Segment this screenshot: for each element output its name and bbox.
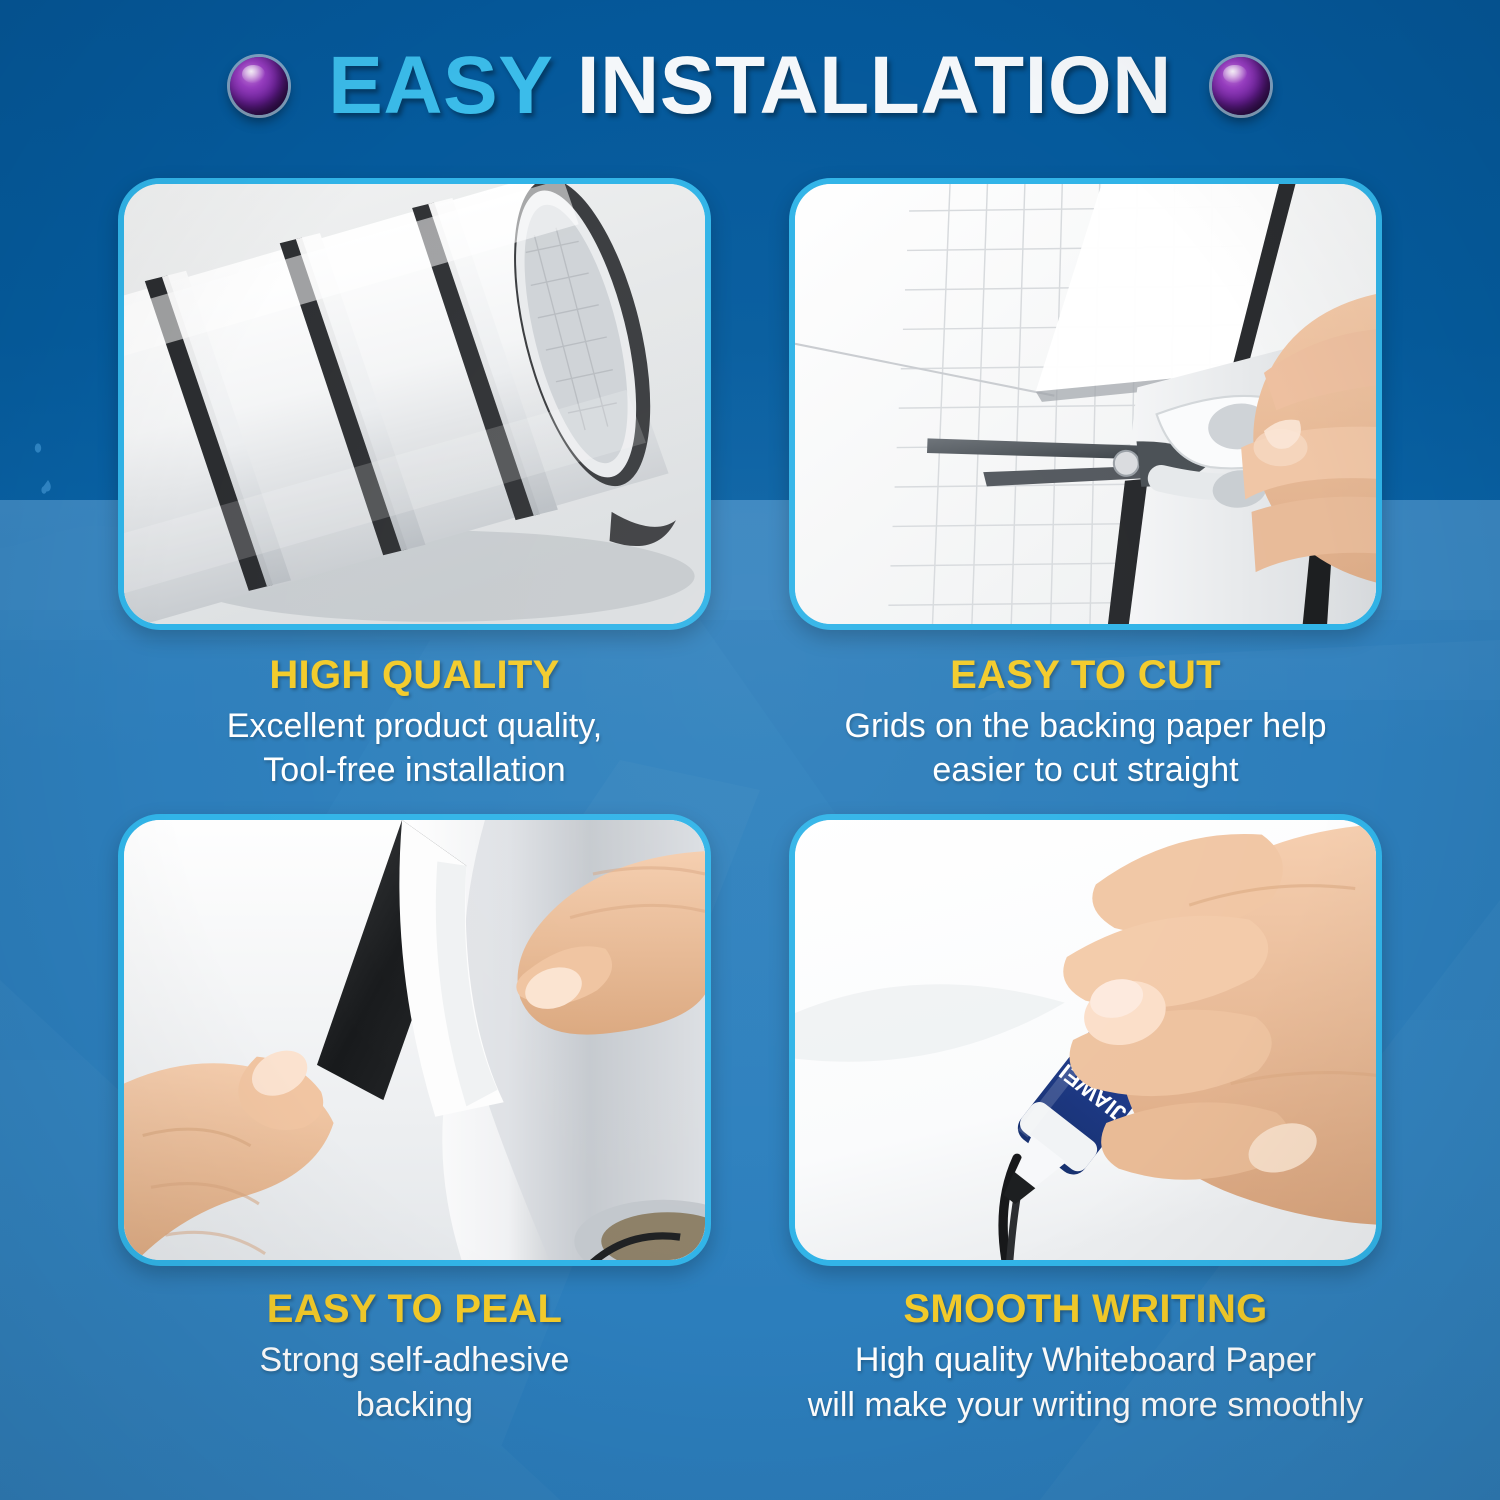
title-word-easy: EASY xyxy=(328,40,553,131)
caption-body-line-1: Grids on the backing paper help xyxy=(845,704,1327,748)
feature-grid: HIGH QUALITY Excellent product quality, … xyxy=(0,178,1500,1427)
photo-scissors-cutting-backing xyxy=(789,178,1382,630)
caption-body: Excellent product quality, Tool-free ins… xyxy=(227,704,602,792)
caption-body: Strong self-adhesive backing xyxy=(260,1338,570,1426)
photo-hands-peeling-backing xyxy=(118,814,711,1266)
purple-pin-icon-right xyxy=(1212,57,1270,115)
caption-high-quality: HIGH QUALITY Excellent product quality, … xyxy=(227,630,602,792)
poster-header: EASY INSTALLATION xyxy=(0,26,1500,146)
caption-heading: HIGH QUALITY xyxy=(227,652,602,698)
caption-body: High quality Whiteboard Paper will make … xyxy=(808,1338,1364,1426)
title-word-installation: INSTALLATION xyxy=(577,40,1172,131)
caption-smooth-writing: SMOOTH WRITING High quality Whiteboard P… xyxy=(808,1266,1364,1426)
caption-body-line-1: High quality Whiteboard Paper xyxy=(808,1338,1364,1382)
caption-body-line-1: Strong self-adhesive xyxy=(260,1338,570,1382)
caption-easy-to-peal: EASY TO PEAL Strong self-adhesive backin… xyxy=(260,1266,570,1426)
page-title: EASY INSTALLATION xyxy=(328,45,1172,127)
feature-cell-smooth-writing: 29 JW-526 No.1 JIAWEI xyxy=(789,814,1382,1426)
feature-cell-easy-to-peal: EASY TO PEAL Strong self-adhesive backin… xyxy=(118,814,711,1426)
product-infographic-poster: EASY INSTALLATION xyxy=(0,0,1500,1500)
caption-heading: SMOOTH WRITING xyxy=(808,1286,1364,1332)
caption-body-line-2: Tool-free installation xyxy=(227,748,602,792)
feature-cell-high-quality: HIGH QUALITY Excellent product quality, … xyxy=(118,178,711,792)
caption-body-line-2: backing xyxy=(260,1383,570,1427)
feature-cell-easy-to-cut: EASY TO CUT Grids on the backing paper h… xyxy=(789,178,1382,792)
caption-heading: EASY TO PEAL xyxy=(260,1286,570,1332)
caption-body-line-2: easier to cut straight xyxy=(845,748,1327,792)
photo-rolled-whiteboard-sheet xyxy=(118,178,711,630)
caption-easy-to-cut: EASY TO CUT Grids on the backing paper h… xyxy=(845,630,1327,792)
caption-body-line-1: Excellent product quality, xyxy=(227,704,602,748)
purple-pin-icon-left xyxy=(230,57,288,115)
caption-heading: EASY TO CUT xyxy=(845,652,1327,698)
caption-body: Grids on the backing paper help easier t… xyxy=(845,704,1327,792)
caption-body-line-2: will make your writing more smoothly xyxy=(808,1383,1364,1427)
photo-hand-writing-marker: 29 JW-526 No.1 JIAWEI xyxy=(789,814,1382,1266)
